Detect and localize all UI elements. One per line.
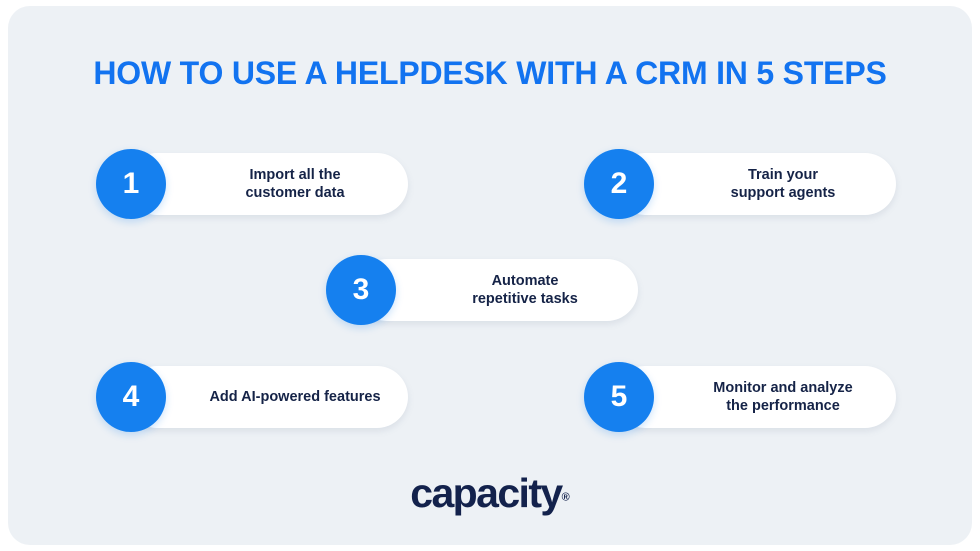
steps-list: Import all the customer data 1 Train you…: [8, 6, 972, 545]
step-card-5: Monitor and analyze the performance 5: [584, 366, 896, 428]
step-number-text-5: 5: [611, 382, 628, 412]
step-label-3: Automate repetitive tasks: [434, 272, 616, 308]
step-label-2: Train your support agents: [692, 166, 874, 202]
step-number-badge-2: 2: [584, 149, 654, 219]
step-pill-4: Add AI-powered features: [126, 366, 408, 428]
step-card-2: Train your support agents 2: [584, 153, 896, 215]
step-number-badge-1: 1: [96, 149, 166, 219]
step-card-4: Add AI-powered features 4: [96, 366, 408, 428]
step-label-5: Monitor and analyze the performance: [692, 379, 874, 415]
step-number-text-1: 1: [123, 169, 140, 199]
brand-logo: capacity®: [8, 471, 972, 515]
step-number-text-2: 2: [611, 169, 628, 199]
step-number-badge-3: 3: [326, 255, 396, 325]
step-card-1: Import all the customer data 1: [96, 153, 408, 215]
step-pill-5: Monitor and analyze the performance: [614, 366, 896, 428]
step-number-badge-4: 4: [96, 362, 166, 432]
step-pill-1: Import all the customer data: [126, 153, 408, 215]
registered-trademark-icon: ®: [562, 492, 570, 504]
infographic-panel: HOW TO USE A HELPDESK WITH A CRM IN 5 ST…: [8, 6, 972, 545]
step-label-4: Add AI-powered features: [204, 388, 386, 406]
step-label-1: Import all the customer data: [204, 166, 386, 202]
step-number-text-4: 4: [123, 382, 140, 412]
step-pill-3: Automate repetitive tasks: [356, 259, 638, 321]
step-card-3: Automate repetitive tasks 3: [326, 259, 638, 321]
step-number-text-3: 3: [353, 275, 370, 305]
step-pill-2: Train your support agents: [614, 153, 896, 215]
brand-name: capacity: [410, 470, 561, 516]
step-number-badge-5: 5: [584, 362, 654, 432]
